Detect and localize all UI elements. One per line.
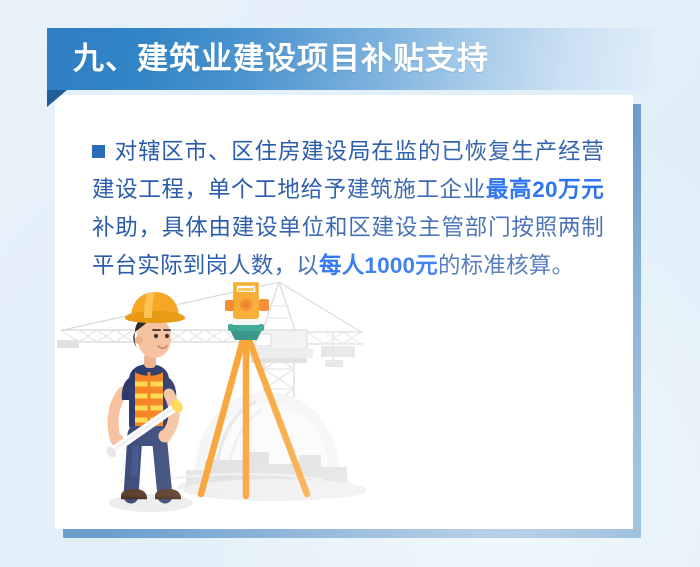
text-segment-4: 的标准核算。 (438, 253, 574, 278)
section-banner: 九、建筑业建设项目补贴支持 (47, 28, 654, 90)
crane-hook (325, 360, 343, 367)
infographic-page: 对辖区市、区住房建设局在监的已恢复生产经营建设工程，单个工地给予建筑施工企业最高… (0, 0, 700, 567)
crane-apex (63, 282, 361, 332)
crane-counter-jib (307, 332, 363, 357)
page-title: 九、建筑业建设项目补贴支持 (73, 28, 489, 90)
worker-hand-right (159, 430, 172, 443)
highlight-amount-max: 最高20万元 (486, 177, 604, 202)
construction-illustration (55, 274, 633, 529)
tripod-ground-shadow (183, 479, 367, 501)
construction-worker-icon (104, 292, 185, 498)
content-card: 对辖区市、区住房建设局在监的已恢复生产经营建设工程，单个工地给予建筑施工企业最高… (55, 95, 633, 529)
tripod-tribrach (230, 330, 262, 340)
crane-counterweight (321, 346, 355, 357)
bullet-square-icon (92, 145, 105, 158)
body-paragraph: 对辖区市、区住房建设局在监的已恢复生产经营建设工程，单个工地给予建筑施工企业最高… (92, 133, 604, 285)
banner-fold-corner (47, 90, 67, 107)
worker-hard-hat (125, 292, 185, 323)
highlight-amount-per-person: 每人1000元 (319, 253, 438, 278)
